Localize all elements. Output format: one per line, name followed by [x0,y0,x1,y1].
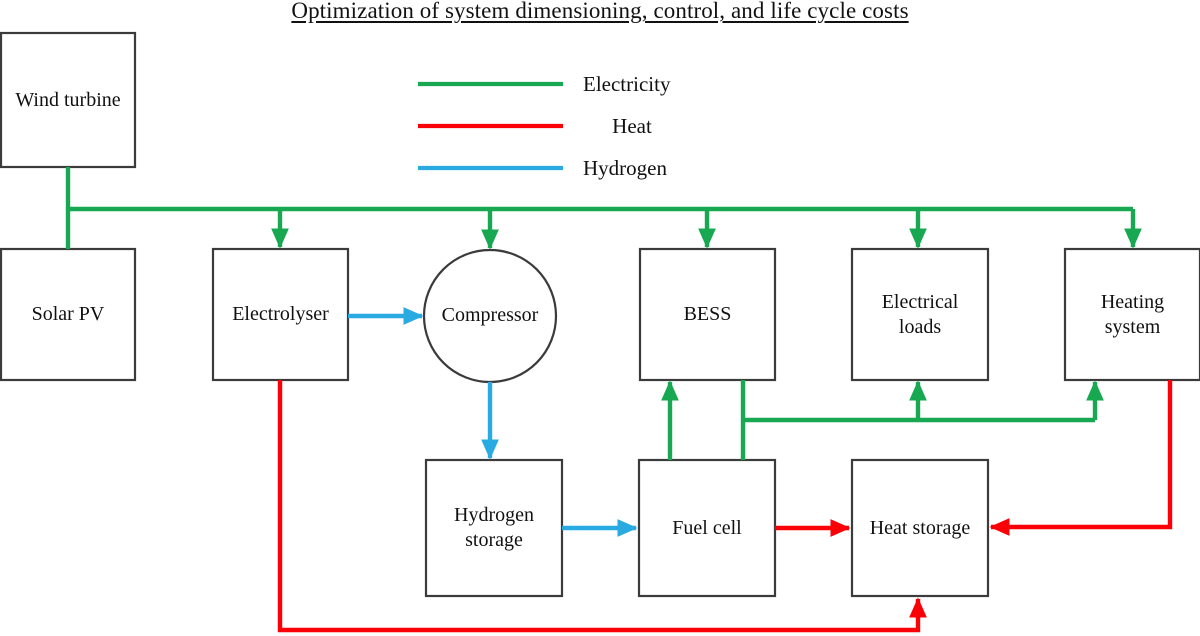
edge-heating-system-to-heat-storage [991,380,1170,527]
node-heat-storage [852,460,988,596]
edge-electrolyser-to-heat-storage [280,380,918,630]
node-wind-turbine [1,33,135,167]
node-heating-system [1065,249,1200,380]
node-electrical-loads [852,249,988,380]
legend-label-hydrogen: Hydrogen [583,156,667,181]
node-solar-pv [1,249,135,380]
legend-label-heat: Heat [583,114,681,139]
legend-label-electricity: Electricity [583,72,670,97]
node-compressor [424,250,556,382]
system-flow-diagram: Optimization of system dimensioning, con… [0,0,1200,636]
node-fuel-cell [639,460,775,596]
node-bess [640,249,775,380]
node-hydrogen-storage [426,460,562,596]
node-electrolyser [213,249,348,380]
